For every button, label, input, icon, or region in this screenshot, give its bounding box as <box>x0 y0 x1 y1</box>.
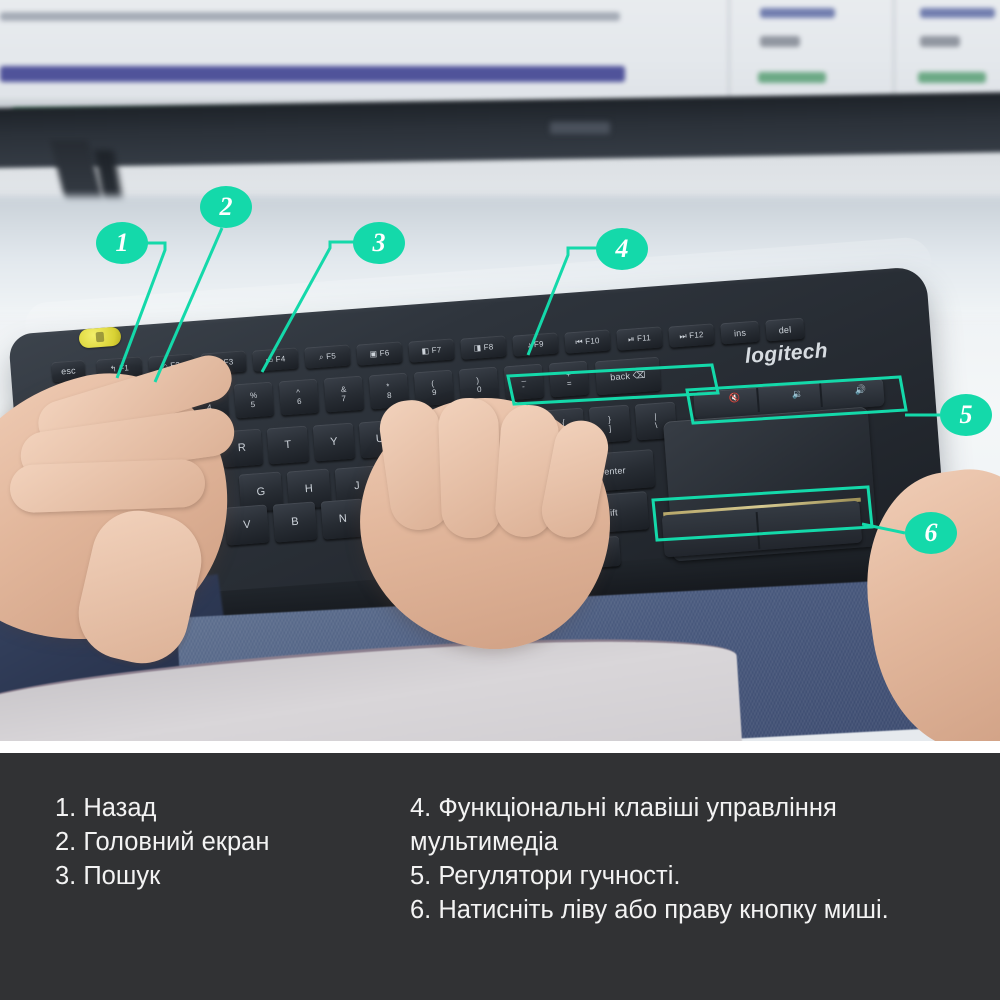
key-f7[interactable]: ◧ F7 <box>408 338 454 362</box>
key-y[interactable]: Y <box>313 423 356 462</box>
mute-icon[interactable]: 🔇 <box>729 393 741 405</box>
monitor-text-line <box>760 36 800 47</box>
key-f6[interactable]: ▣ F6 <box>356 341 402 365</box>
left-finger <box>9 459 206 514</box>
callout-badge-2[interactable]: 2 <box>200 186 252 228</box>
key-v[interactable]: V <box>225 504 270 545</box>
volume-down-icon[interactable]: 🔉 <box>792 389 804 401</box>
callout-badge-3[interactable]: 3 <box>353 222 405 264</box>
monitor-logo <box>550 122 610 134</box>
key-f4[interactable]: ▭ F4 <box>252 347 298 371</box>
monitor-text-line <box>760 8 835 18</box>
key-f5[interactable]: ⌕ F5 <box>304 344 350 368</box>
callout-badge-4[interactable]: 4 <box>596 228 648 270</box>
legend-item: 1. Назад <box>55 791 410 825</box>
legend-item: 2. Головний екран <box>55 825 410 859</box>
monitor-text-line <box>0 66 625 82</box>
key-f12[interactable]: ⏭ F12 <box>668 323 714 347</box>
key-backspace[interactable]: back ⌫ <box>595 357 661 396</box>
key-minus[interactable]: _- <box>504 364 544 401</box>
callout-badge-6[interactable]: 6 <box>905 512 957 554</box>
monitor-text-line <box>920 8 995 18</box>
key-t[interactable]: T <box>267 426 310 465</box>
key-f8[interactable]: ◨ F8 <box>460 335 506 359</box>
key-f9[interactable]: ♪ F9 <box>512 332 558 356</box>
key-b[interactable]: B <box>273 501 318 542</box>
key-n[interactable]: N <box>321 498 366 539</box>
legend-column-right: 4. Функціональні клавіші управління муль… <box>410 791 970 928</box>
key-equals[interactable]: += <box>549 361 589 398</box>
monitor-text-line <box>0 12 620 21</box>
legend-item: 4. Функціональні клавіші управління муль… <box>410 791 970 859</box>
key-f11[interactable]: ⏯ F11 <box>616 326 662 350</box>
legend-item: 5. Регулятори гучності. <box>410 859 970 893</box>
right-finger <box>438 397 503 539</box>
key-6[interactable]: ^6 <box>279 379 319 416</box>
white-separator <box>0 741 1000 753</box>
battery-status-led <box>78 326 121 348</box>
monitor-text-line <box>758 72 826 83</box>
key-del[interactable]: del <box>765 318 804 342</box>
legend-item: 3. Пошук <box>55 859 410 893</box>
legend-column-left: 1. Назад 2. Головний екран 3. Пошук <box>0 791 410 928</box>
callout-badge-1[interactable]: 1 <box>96 222 148 264</box>
volume-up-icon[interactable]: 🔊 <box>855 385 867 397</box>
product-photo: logitech esc ↰ F1 ⌂ F2 ▤ F3 ▭ F4 ⌕ F5 ▣ … <box>0 0 1000 741</box>
legend-panel: 1. Назад 2. Головний екран 3. Пошук 4. Ф… <box>0 753 1000 1000</box>
key-7[interactable]: &7 <box>324 376 364 413</box>
legend-item: 6. Натисніть ліву або праву кнопку миші. <box>410 893 970 927</box>
monitor-bezel <box>0 92 1000 169</box>
key-ins[interactable]: ins <box>720 321 759 345</box>
monitor-text-line <box>918 72 986 83</box>
key-5[interactable]: %5 <box>234 382 274 419</box>
key-f10[interactable]: ⏮ F10 <box>564 329 610 353</box>
product-infographic: logitech esc ↰ F1 ⌂ F2 ▤ F3 ▭ F4 ⌕ F5 ▣ … <box>0 0 1000 1000</box>
monitor-text-line <box>920 36 960 47</box>
callout-badge-5[interactable]: 5 <box>940 394 992 436</box>
